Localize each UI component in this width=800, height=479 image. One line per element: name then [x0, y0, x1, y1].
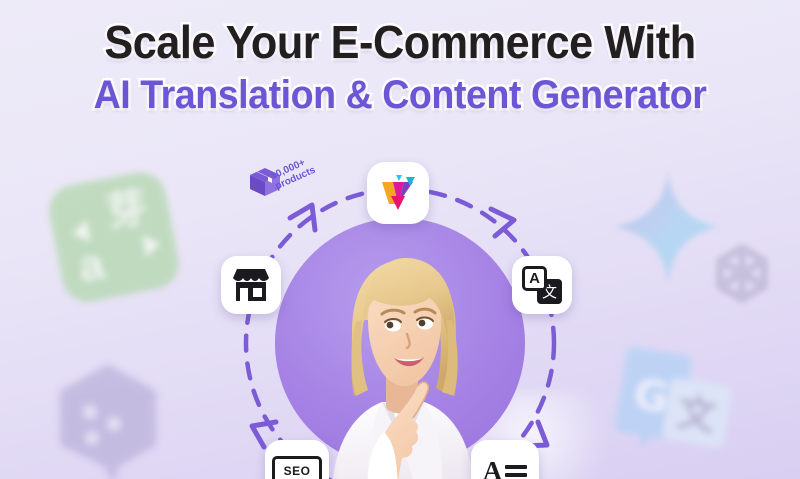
node-content-generator[interactable]: A	[471, 440, 539, 479]
gemini-sparkle-icon	[612, 170, 720, 285]
svg-text:G: G	[630, 369, 672, 423]
storefront-icon	[232, 268, 270, 302]
node-translate[interactable]: 文 A	[512, 256, 572, 314]
google-translate-green-icon: 芽 a	[45, 168, 183, 306]
node-seo[interactable]: SEO	[265, 440, 329, 479]
node-brand-logo-v[interactable]	[367, 162, 429, 224]
headline-line-2: AI Translation & Content Generator	[24, 74, 776, 117]
svg-text:文: 文	[674, 390, 718, 439]
promo-banner: 芽 a	[0, 0, 800, 479]
hero-person-image	[312, 236, 492, 479]
orbit-stage: 文 A SEO A	[194, 158, 606, 479]
google-translate-blue-icon: G 文	[607, 339, 741, 468]
headline: Scale Your E-Commerce With AI Translatio…	[0, 18, 800, 117]
text-lines-letter: A	[483, 458, 503, 479]
node-storefront[interactable]	[221, 256, 281, 314]
translate-icon: 文 A	[522, 266, 562, 304]
headline-line-1: Scale Your E-Commerce With	[24, 18, 776, 68]
text-lines-icon: A	[483, 458, 528, 479]
v-gradient-logo-icon	[379, 174, 417, 212]
openai-logo-icon	[690, 228, 794, 332]
seo-icon: SEO	[272, 456, 322, 479]
chat-bubble-hex-icon	[48, 360, 168, 479]
